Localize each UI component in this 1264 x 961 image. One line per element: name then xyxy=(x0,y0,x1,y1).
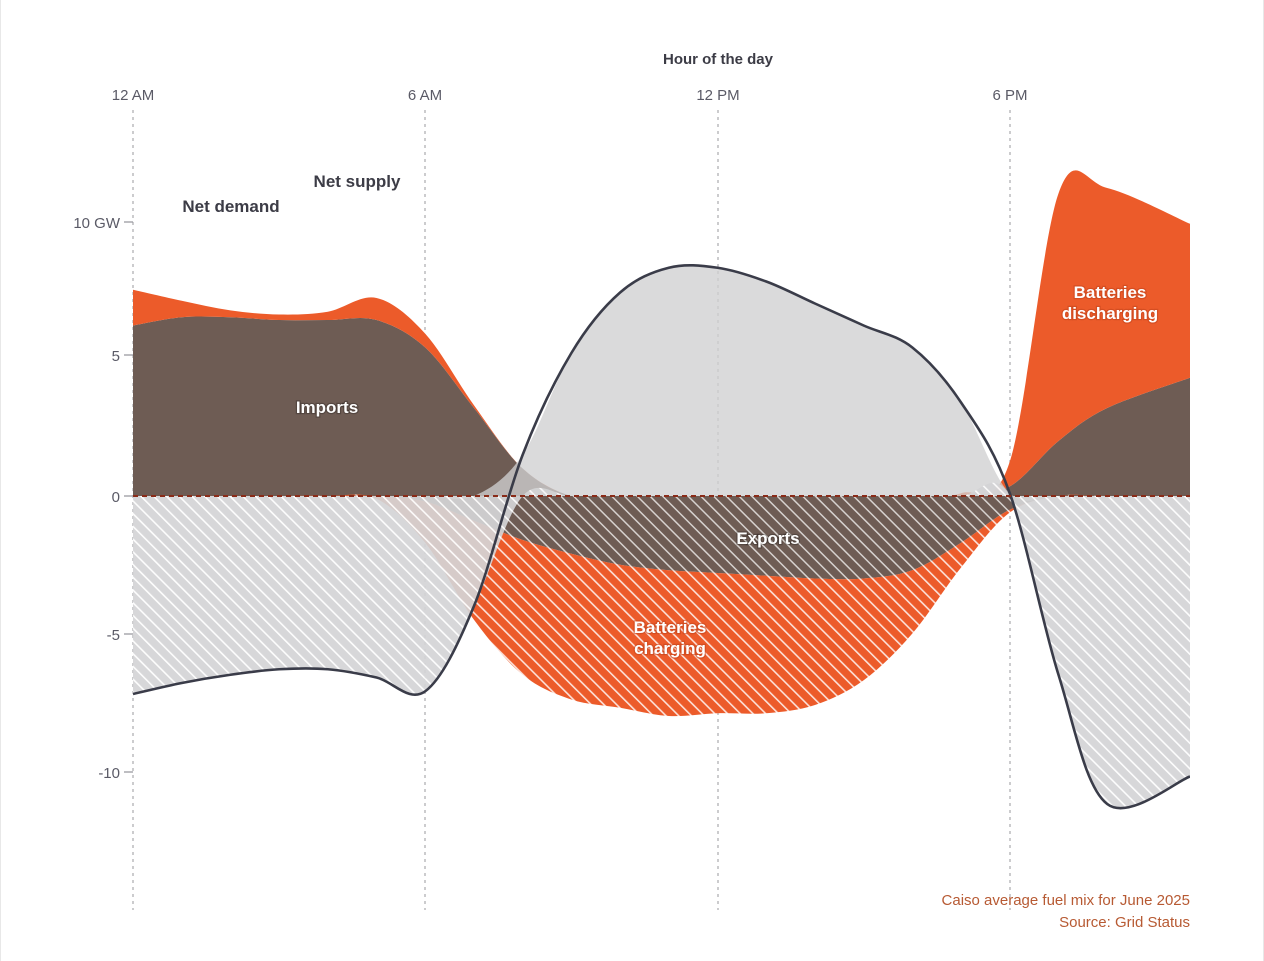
x-tick-label-0: 12 AM xyxy=(112,87,155,104)
plot-areas xyxy=(133,170,1190,808)
y-tick-label-10: 10 GW xyxy=(73,215,121,232)
x-axis-ticks: 12 AM 6 AM 12 PM 6 PM xyxy=(112,87,1028,104)
x-tick-label-2: 12 PM xyxy=(696,87,739,104)
annotation-batteries-charging-line2: charging xyxy=(634,639,706,658)
x-tick-label-3: 6 PM xyxy=(992,87,1027,104)
fuel-mix-area-chart: Hour of the day 12 AM 6 AM 12 PM 6 PM 10… xyxy=(0,0,1264,961)
annotation-batteries-discharging-line2: discharging xyxy=(1062,304,1158,323)
y-tick-label-5: 5 xyxy=(112,348,120,365)
chart-caption: Caiso average fuel mix for June 2025 Sou… xyxy=(942,892,1190,931)
annotation-batteries-charging-line1: Batteries xyxy=(634,618,707,637)
caption-line-2: Source: Grid Status xyxy=(1059,914,1190,931)
y-tick-label-neg5: -5 xyxy=(107,627,120,644)
y-tick-label-0: 0 xyxy=(112,489,120,506)
x-axis-title: Hour of the day xyxy=(663,51,774,68)
annotation-exports: Exports xyxy=(736,529,799,548)
annotation-batteries-discharging-line1: Batteries xyxy=(1074,283,1147,302)
x-tick-label-1: 6 AM xyxy=(408,87,442,104)
chart-container: Hour of the day 12 AM 6 AM 12 PM 6 PM 10… xyxy=(0,0,1264,961)
annotation-imports: Imports xyxy=(296,398,358,417)
region-annotations: Net demand Net supply xyxy=(182,172,401,216)
annotation-net-supply: Net supply xyxy=(314,172,401,191)
annotation-net-demand: Net demand xyxy=(182,197,279,216)
y-tick-label-neg10: -10 xyxy=(98,765,120,782)
y-axis-ticks: 10 GW 5 0 -5 -10 xyxy=(73,215,133,782)
caption-line-1: Caiso average fuel mix for June 2025 xyxy=(942,892,1190,909)
